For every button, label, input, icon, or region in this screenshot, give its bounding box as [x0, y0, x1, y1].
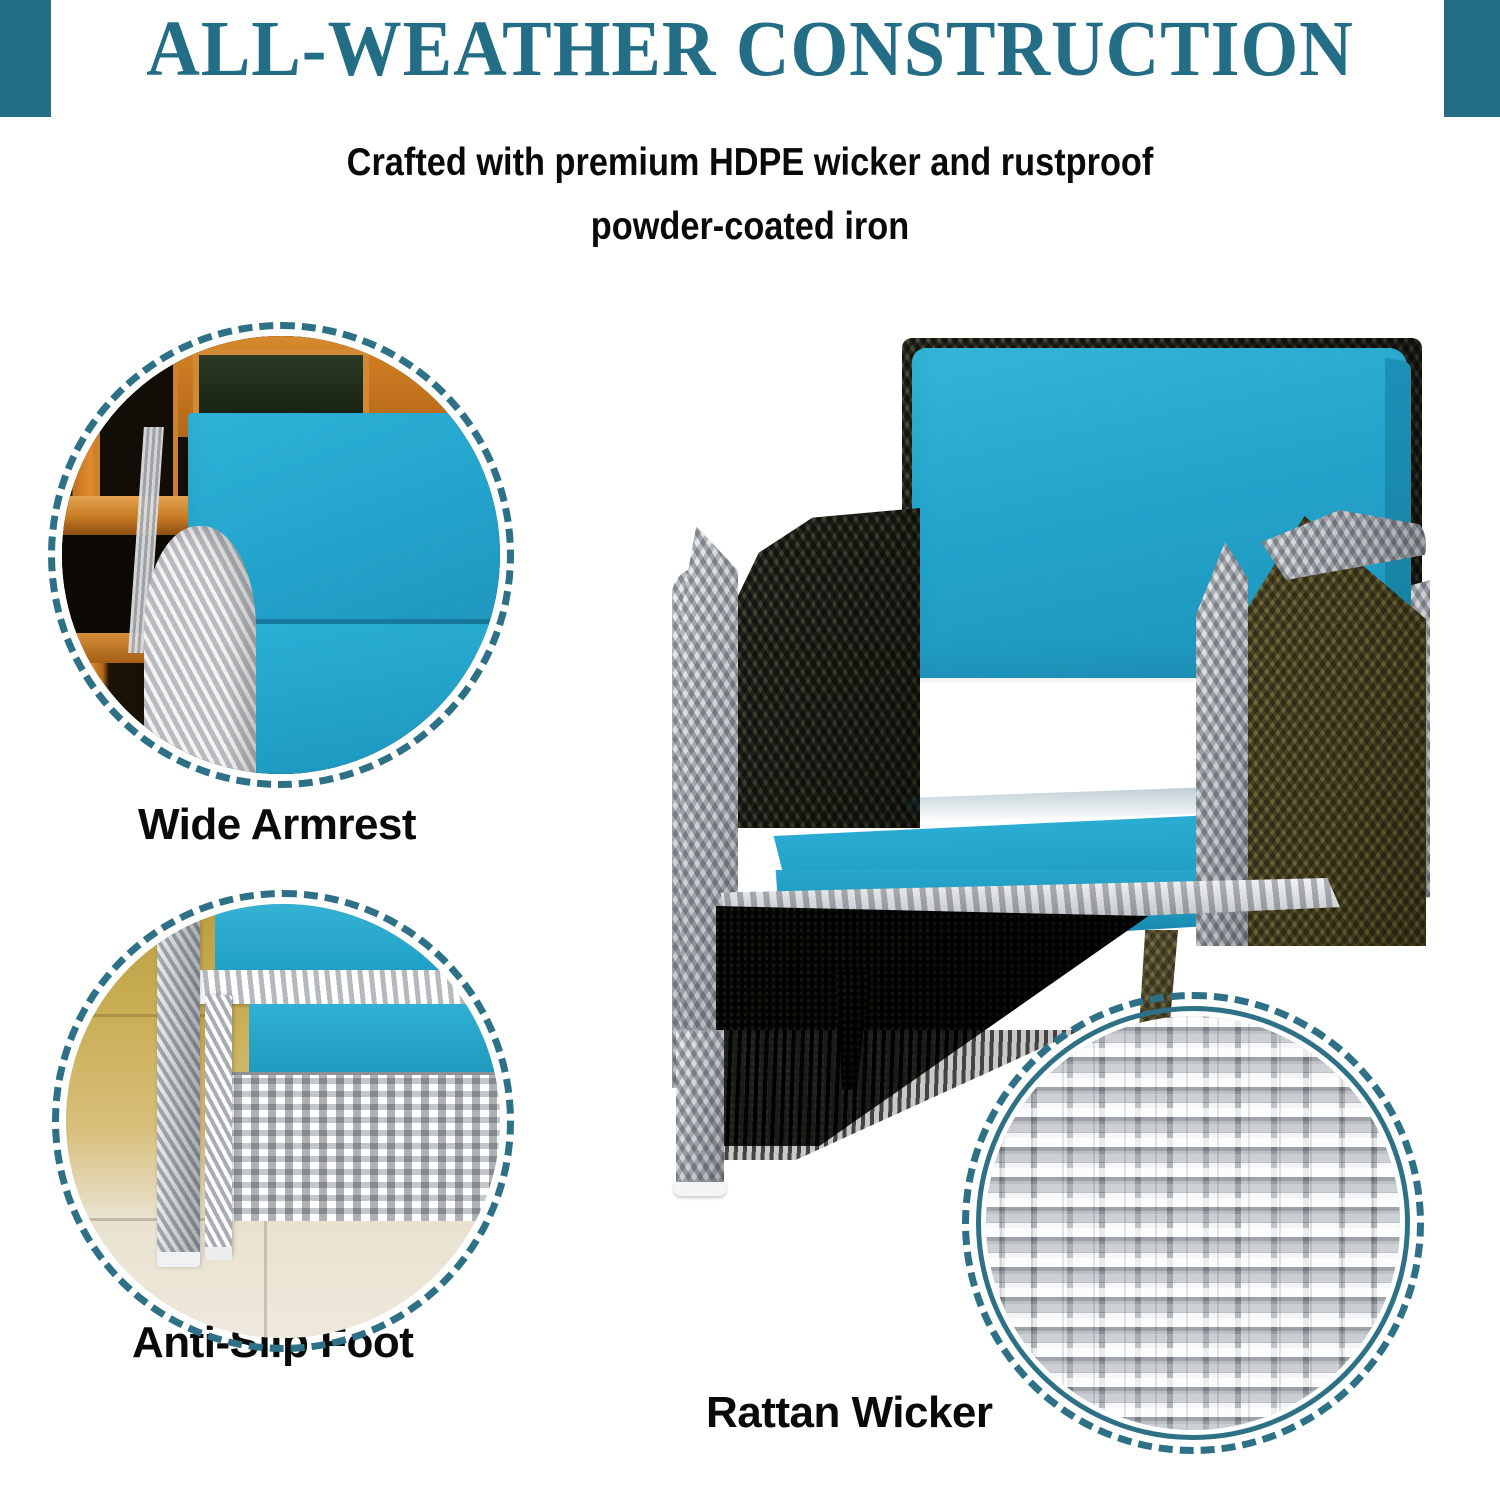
wicker-skirt [225, 1072, 500, 1221]
header-accent-bar-left [0, 0, 51, 117]
photo-wide-armrest [62, 336, 500, 774]
caption-rattan-wicker: Rattan Wicker [706, 1388, 993, 1438]
chair-left-arm-inner [728, 508, 920, 828]
infographic-canvas: ALL-WEATHER CONSTRUCTION Crafted with pr… [0, 0, 1500, 1500]
subtitle-line-2: powder-coated iron [222, 195, 1278, 259]
wicker-armrest [144, 526, 257, 774]
chair-leg-front [157, 904, 201, 1267]
feature-circle-anti-slip-foot [52, 890, 514, 1352]
caption-wide-armrest: Wide Armrest [138, 800, 416, 850]
subtitle-line-1: Crafted with premium HDPE wicker and rus… [222, 131, 1278, 195]
chair-foot-front-left [674, 1182, 726, 1196]
door-glass-left [95, 354, 178, 501]
anti-slip-foot-rear [205, 1247, 232, 1259]
foot-photo-art [66, 904, 500, 1338]
anti-slip-foot-front [157, 1252, 201, 1267]
photo-rattan-wicker [986, 1016, 1400, 1430]
header-accent-bar-right [1444, 0, 1500, 117]
chair-leg-front-left [676, 1030, 724, 1190]
feature-circle-wide-armrest [48, 322, 514, 788]
armrest-photo-art [62, 336, 500, 774]
chair-leg-rear [205, 995, 232, 1257]
cushion-lower [249, 1004, 500, 1077]
page-title: ALL-WEATHER CONSTRUCTION [101, 6, 1398, 94]
wicker-texture-art [986, 1016, 1400, 1430]
weave-layer-seams [986, 1016, 1400, 1430]
floor-grout-v [264, 1218, 267, 1338]
feature-circle-rattan-wicker [962, 992, 1424, 1454]
page-subtitle: Crafted with premium HDPE wicker and rus… [222, 131, 1278, 259]
cushion-upper [215, 904, 500, 970]
photo-anti-slip-foot [66, 904, 500, 1338]
wicker-side-rail [200, 970, 500, 1004]
